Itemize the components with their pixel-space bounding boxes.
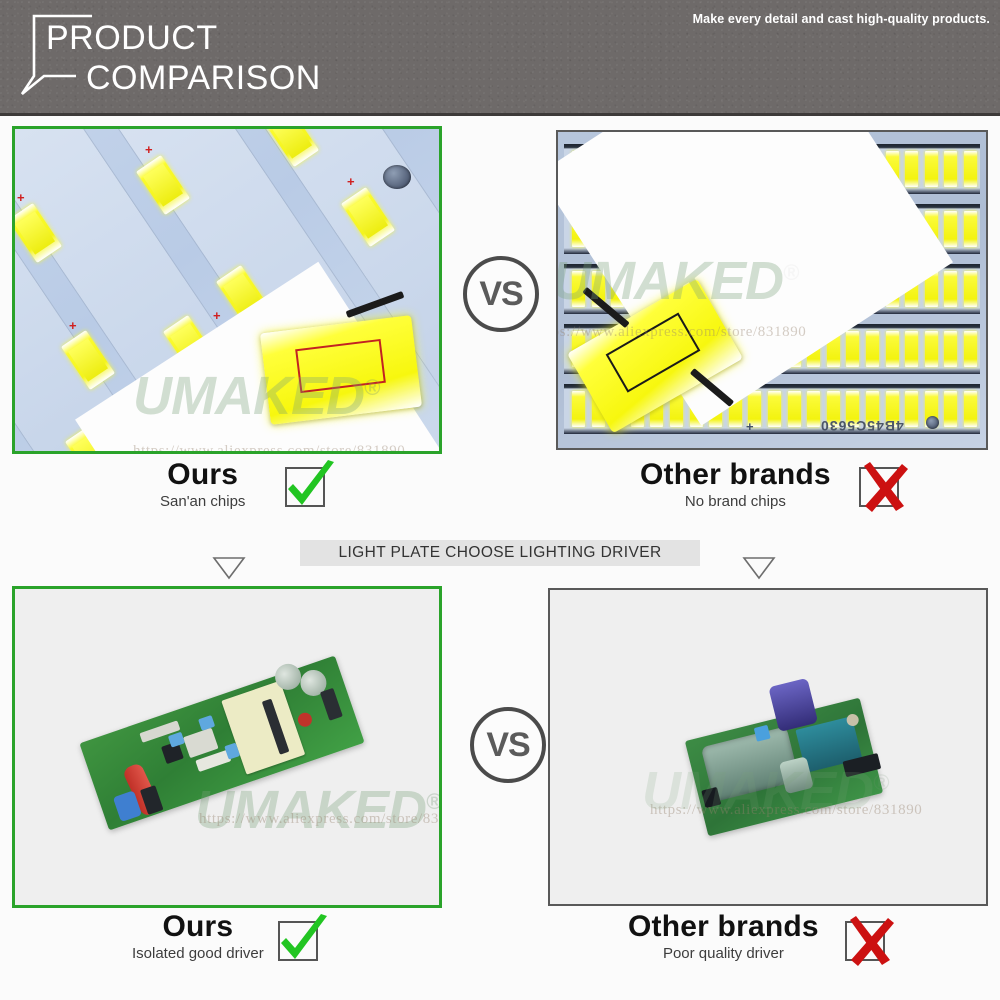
title-line-product: PRODUCT [46, 18, 321, 58]
led-cell [964, 211, 977, 247]
section-divider-band: LIGHT PLATE CHOOSE LIGHTING DRIVER [300, 540, 700, 566]
vs-label: VS [486, 726, 529, 765]
led-cell [788, 391, 801, 427]
led-cell [964, 271, 977, 307]
panel-ours-driver: UMAKED® https://www.aliexpress.com/store… [12, 586, 442, 908]
vs-label: VS [479, 275, 522, 314]
led-cell [944, 271, 957, 307]
led-cell [768, 391, 781, 427]
driver-board [79, 656, 364, 831]
led-cell [944, 391, 957, 427]
watermark-brand: UMAKED® [195, 779, 441, 841]
led-chip-closeup [260, 315, 422, 425]
cross-icon [852, 456, 914, 518]
led-cell [944, 331, 957, 367]
led-plate-image: + + + + + + + 6W UMAKED® https://www.ali… [15, 129, 439, 451]
status-badge-check [285, 467, 325, 507]
label-subtitle: San'an chips [160, 493, 245, 511]
page-header: PRODUCT COMPARISON Make every detail and… [0, 0, 1000, 116]
led-cell [925, 151, 938, 187]
led-cell [846, 331, 859, 367]
watermark-registered-icon: ® [426, 789, 441, 814]
check-icon [271, 910, 333, 972]
led-cell [886, 331, 899, 367]
led-cell [905, 151, 918, 187]
header-tagline: Make every detail and cast high-quality … [693, 12, 990, 26]
header-divider [0, 113, 1000, 116]
status-badge-cross [859, 467, 899, 507]
board-code: 4B45C5630 [820, 418, 904, 434]
label-ours-chips: Ours San'an chips [160, 460, 325, 511]
led-cell [964, 151, 977, 187]
chip-outline [606, 313, 701, 393]
panel-ours-led-plate: + + + + + + + 6W UMAKED® https://www.ali… [12, 126, 442, 454]
label-subtitle: No brand chips [685, 493, 786, 511]
label-other-chips: Other brands No brand chips [640, 460, 899, 511]
led-cell [964, 391, 977, 427]
label-title: Ours [162, 912, 233, 942]
driver-image-other: https://www.aliexpress.com/store/831890 … [550, 590, 986, 904]
title-line-comparison: COMPARISON [46, 58, 321, 98]
label-title: Other brands [640, 460, 831, 490]
label-subtitle: Isolated good driver [132, 945, 264, 963]
watermark-url: https://www.aliexpress.com/store/831890 [199, 811, 442, 828]
status-badge-cross [845, 921, 885, 961]
page-title: PRODUCT COMPARISON [46, 18, 321, 98]
label-subtitle: Poor quality driver [663, 945, 784, 963]
led-cell [905, 331, 918, 367]
chip-outline [296, 339, 386, 393]
led-cell [925, 331, 938, 367]
triangle-down-icon-right [742, 556, 776, 580]
led-cell [866, 331, 879, 367]
check-icon [278, 456, 340, 518]
led-cell [572, 271, 585, 307]
section-divider-label: LIGHT PLATE CHOOSE LIGHTING DRIVER [338, 544, 661, 562]
vs-badge-bottom: VS [470, 707, 546, 783]
cross-icon [838, 910, 900, 972]
led-cell [964, 331, 977, 367]
led-cell [572, 391, 585, 427]
vs-badge-top: VS [463, 256, 539, 332]
panel-other-driver: https://www.aliexpress.com/store/831890 … [548, 588, 988, 906]
status-badge-check [278, 921, 318, 961]
label-title: Ours [167, 460, 238, 490]
label-title: Other brands [628, 912, 819, 942]
led-cell [807, 391, 820, 427]
label-ours-driver: Ours Isolated good driver [132, 912, 318, 963]
led-cell [944, 151, 957, 187]
triangle-down-icon-left [212, 556, 246, 580]
led-cell [944, 211, 957, 247]
panel-other-led-plate: 4B45C5630 + UMAKED® https://www.aliexpre… [556, 130, 988, 450]
label-other-driver: Other brands Poor quality driver [628, 912, 885, 963]
led-cell [905, 391, 918, 427]
driver-board [685, 698, 883, 837]
driver-image-ours: UMAKED® https://www.aliexpress.com/store… [15, 589, 439, 905]
dense-led-grid-image: 4B45C5630 + UMAKED® https://www.aliexpre… [558, 132, 986, 448]
